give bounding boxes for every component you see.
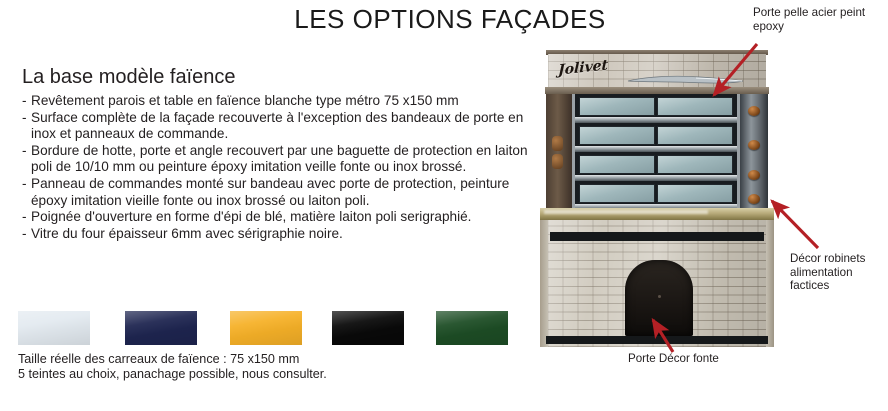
oven-door-glass[interactable]	[657, 126, 733, 145]
bullet-dash: -	[22, 143, 31, 176]
decor-valve-icon	[552, 136, 563, 151]
bullet-dash: -	[22, 209, 31, 226]
arrow-decor-robinets	[772, 201, 818, 248]
list-item: - Panneau de commandes monté sur bandeau…	[22, 176, 547, 209]
decor-valve-icon	[552, 154, 563, 169]
swatch-caption-line-1: Taille réelle des carreaux de faïence : …	[18, 352, 327, 367]
bullet-dash: -	[22, 93, 31, 110]
feature-list: - Revêtement parois et table en faïence …	[22, 93, 547, 242]
swatch-vert[interactable]	[436, 311, 508, 345]
swatch-caption: Taille réelle des carreaux de faïence : …	[18, 352, 327, 383]
list-item: - Surface complète de la façade recouver…	[22, 110, 547, 143]
swatch-caption-line-2: 5 teintes au choix, panachage possible, …	[18, 367, 327, 382]
base-right-edge	[766, 220, 774, 347]
callout-porte-pelle: Porte pelle acier peint epoxy	[753, 6, 883, 33]
oven-hood: Jolivet	[546, 50, 768, 94]
base-upper-band	[550, 232, 764, 241]
oven-door-glass[interactable]	[579, 184, 655, 203]
swatch-gloss	[125, 311, 197, 345]
list-item: - Vitre du four épaisseur 6mm avec sérig…	[22, 226, 547, 243]
oven-deck[interactable]	[575, 181, 737, 210]
door-pin-icon	[658, 295, 661, 298]
callout-decor-robinets: Décor robinets alimentation factices	[790, 252, 885, 293]
list-item: - Revêtement parois et table en faïence …	[22, 93, 547, 110]
swatch-gloss	[230, 311, 302, 345]
list-item-text: Revêtement parois et table en faïence bl…	[31, 93, 547, 110]
hood-tiled-panel: Jolivet	[548, 54, 766, 88]
bullet-dash: -	[22, 110, 31, 143]
swatch-noir[interactable]	[332, 311, 404, 345]
bullet-dash: -	[22, 226, 31, 243]
decor-tap-knob-icon	[748, 194, 760, 204]
steel-peel-icon	[626, 74, 744, 84]
oven-deck[interactable]	[575, 152, 737, 181]
oven-door-glass[interactable]	[579, 97, 655, 116]
oven-right-column	[740, 94, 768, 210]
list-item-text: Surface complète de la façade recouverte…	[31, 110, 547, 143]
list-item-text: Poignée d'ouverture en forme d'épi de bl…	[31, 209, 547, 226]
oven-tiled-base	[540, 220, 774, 347]
oven-photo: Jolivet	[533, 50, 778, 347]
colour-swatch-row	[0, 311, 540, 351]
swatch-gloss	[332, 311, 404, 345]
oven-doors-group	[572, 94, 740, 210]
decor-tap-knob-icon	[748, 106, 760, 116]
bullet-dash: -	[22, 176, 31, 209]
list-item: - Poignée d'ouverture en forme d'épi de …	[22, 209, 547, 226]
oven-door-glass[interactable]	[657, 155, 733, 174]
swatch-gloss	[436, 311, 508, 345]
list-item-text: Panneau de commandes monté sur bandeau a…	[31, 176, 547, 209]
swatch-blanc[interactable]	[18, 311, 90, 345]
decor-tap-knob-icon	[748, 140, 760, 150]
swatch-gloss	[18, 311, 90, 345]
oven-left-column	[546, 94, 572, 210]
base-left-edge	[540, 220, 548, 347]
oven-door-glass[interactable]	[657, 184, 733, 203]
hood-bottom-trim	[545, 87, 769, 94]
oven-deck[interactable]	[575, 94, 737, 123]
section-subtitle: La base modèle faïence	[22, 66, 236, 89]
worktop-highlight	[544, 210, 708, 214]
decor-tap-knob-icon	[748, 170, 760, 180]
base-plinth	[546, 336, 768, 344]
oven-door-glass[interactable]	[657, 97, 733, 116]
decor-cast-iron-door[interactable]	[625, 260, 693, 336]
page-title: LES OPTIONS FAÇADES	[220, 4, 680, 35]
callout-porte-decor-fonte: Porte Décor fonte	[628, 352, 748, 366]
list-item: - Bordure de hotte, porte et angle recou…	[22, 143, 547, 176]
list-item-text: Bordure de hotte, porte et angle recouve…	[31, 143, 547, 176]
oven-door-glass[interactable]	[579, 126, 655, 145]
oven-deck-stack	[546, 94, 768, 210]
list-item-text: Vitre du four épaisseur 6mm avec sérigra…	[31, 226, 547, 243]
swatch-bleu-nuit[interactable]	[125, 311, 197, 345]
swatch-jaune[interactable]	[230, 311, 302, 345]
oven-deck[interactable]	[575, 123, 737, 152]
slide-canvas: LES OPTIONS FAÇADES La base modèle faïen…	[0, 0, 888, 411]
oven-door-glass[interactable]	[579, 155, 655, 174]
